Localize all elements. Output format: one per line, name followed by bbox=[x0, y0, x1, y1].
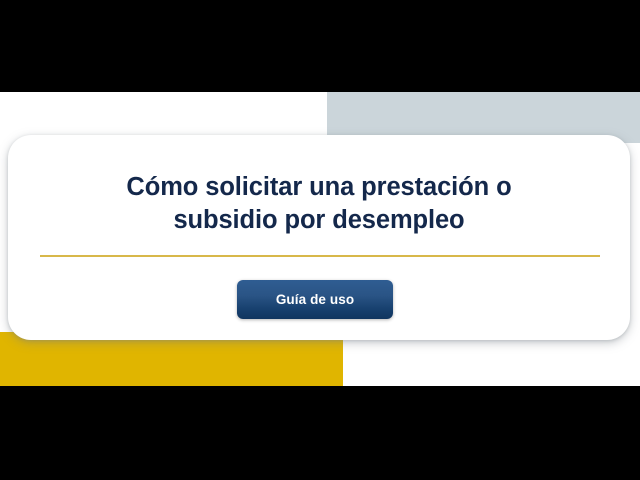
guia-de-uso-button[interactable]: Guía de uso bbox=[237, 280, 393, 319]
letterbox-bottom bbox=[0, 386, 640, 480]
slide-canvas: Cómo solicitar una prestación o subsidio… bbox=[0, 92, 640, 386]
page-title: Cómo solicitar una prestación o subsidio… bbox=[8, 171, 630, 237]
slide-root: Cómo solicitar una prestación o subsidio… bbox=[0, 0, 640, 480]
content-card-inner: Cómo solicitar una prestación o subsidio… bbox=[8, 135, 630, 340]
content-card: Cómo solicitar una prestación o subsidio… bbox=[8, 135, 630, 340]
title-divider bbox=[40, 255, 600, 257]
decorative-yellow-block bbox=[0, 332, 343, 386]
letterbox-top bbox=[0, 0, 640, 92]
